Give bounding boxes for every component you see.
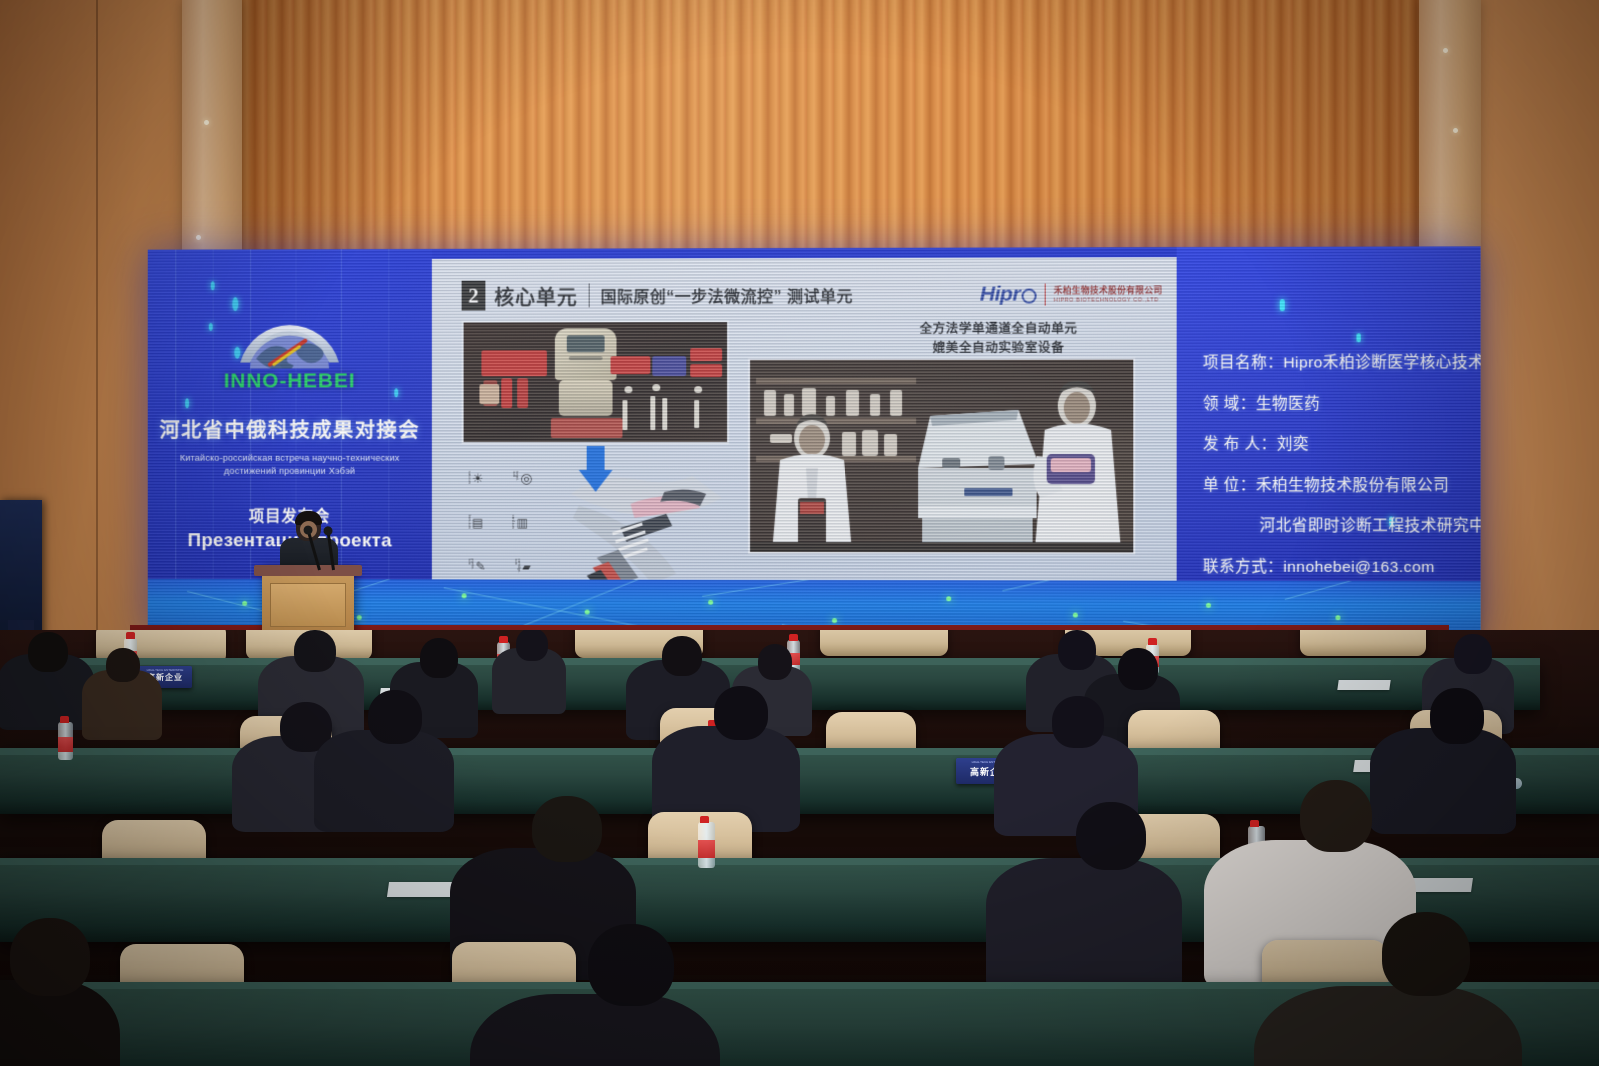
feature-icon-bars: bars-icon ▤ — [467, 515, 484, 531]
caption-line-1: 全方法学单通道全自动单元 — [848, 319, 1149, 338]
water-bottle-r2-a — [58, 722, 73, 760]
product-kit-photo — [462, 320, 729, 444]
feature-icon-grid: sun-icon ☀ target-icon ◎ bars-icon ▤ car… — [467, 470, 561, 575]
event-subtitle-ru-2: достижений провинции Хэбэй — [169, 465, 410, 478]
water-bottle-r3-a — [698, 822, 715, 868]
lab-photo-caption: 全方法学单通道全自动单元 媲美全自动实验室设备 — [848, 319, 1149, 357]
audience-seating-area: 高新企业 HIGH-TECH ENTERPRISE — [0, 630, 1599, 1066]
hipro-logo: Hipr 禾柏生物技术股份有限公司 HIPRO BIOTECHNOLOGY CO… — [980, 282, 1163, 306]
feature-icon-cartridge: cartridge-icon ▰ — [513, 559, 530, 575]
event-title-cn: 河北省中俄科技成果对接会 — [148, 413, 432, 443]
presentation-slide: 2 核心单元 国际原创“一步法微流控” 测试单元 Hipr 禾柏生物技术股份有限… — [432, 257, 1177, 584]
slide-section-number: 2 — [462, 281, 486, 311]
front-sofa-6 — [1300, 630, 1426, 656]
slide-section-subtitle: 国际原创“一步法微流控” 测试单元 — [601, 283, 853, 307]
hipro-company-cn: 禾柏生物技术股份有限公司 — [1054, 285, 1163, 297]
hipro-company-en: HIPRO BIOTECHNOLOGY CO.,LTD — [1054, 297, 1163, 303]
front-sofa-4 — [820, 630, 948, 656]
globe-icon — [234, 307, 344, 369]
info-row-project-name: 项目名称：Hipro禾柏诊断医学核心技术推介 — [1203, 355, 1473, 371]
paper-r1-c — [1337, 680, 1390, 690]
conference-photo: INNO-HEBEI 河北省中俄科技成果对接会 Китайско-российс… — [0, 0, 1599, 1066]
slide-header: 2 核心单元 国际原创“一步法微流控” 测试单元 Hipr 禾柏生物技术股份有限… — [462, 277, 1163, 312]
header-divider — [589, 283, 590, 307]
inno-hebei-wordmark: INNO-HEBEI — [148, 370, 432, 391]
slide-section-title: 核心单元 — [494, 281, 577, 310]
info-row-contact: 联系方式：innohebei@163.com — [1203, 559, 1473, 575]
feature-icon-pipette: pipette-icon ✎ — [467, 558, 486, 574]
project-info-list: 项目名称：Hipro禾柏诊断医学核心技术推介 领 域：生物医药 发 布 人：刘奕… — [1203, 355, 1473, 600]
hipro-o-mark — [1021, 288, 1036, 303]
info-row-presenter: 发 布 人：刘奕 — [1203, 437, 1473, 453]
event-subtitle-ru-1: Китайско-российская встреча научно-техни… — [169, 452, 410, 465]
logo-divider — [1044, 284, 1046, 306]
feature-icon-target: target-icon ◎ — [511, 470, 532, 487]
caption-line-2: 媲美全自动实验室设备 — [848, 338, 1149, 357]
feature-icon-card: card-icon ▥ — [511, 515, 528, 531]
laboratory-scientists-photo — [748, 358, 1135, 555]
info-row-organization-2: 河北省即时诊断工程技术研究中心 — [1203, 518, 1473, 534]
hipro-wordmark: Hipr — [980, 283, 1020, 307]
info-row-organization: 单 位：禾柏生物技术股份有限公司 — [1203, 478, 1473, 494]
feature-icon-sun: sun-icon ☀ — [467, 470, 484, 486]
info-row-field: 领 域：生物医药 — [1203, 396, 1473, 412]
